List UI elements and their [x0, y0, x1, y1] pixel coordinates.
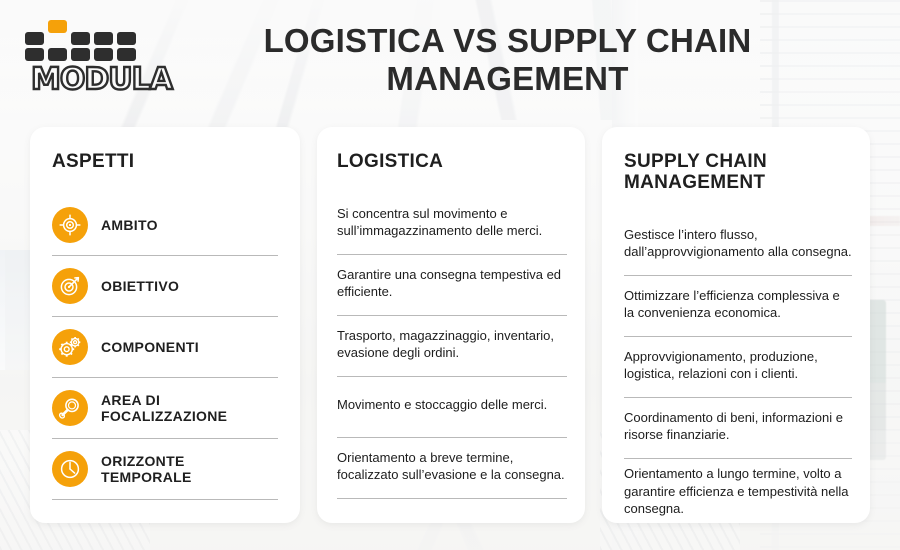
logo-box-3 [71, 32, 90, 45]
logistica-row-text: Garantire una consegna tempestiva ed eff… [337, 266, 567, 301]
card-logistica: LOGISTICA Si concentra sul movimento e s… [317, 127, 585, 523]
logo-wordmark-text: MODULA [31, 62, 172, 97]
logo-box-6 [25, 48, 44, 61]
scm-row-4: Coordinamento di beni, informazioni e ri… [624, 398, 852, 459]
logo-box-5 [117, 32, 136, 45]
aspect-row-area-di-focalizzazione[interactable]: AREA DI FOCALIZZAZIONE [52, 378, 278, 439]
logistica-row-5: Orientamento a breve termine, focalizzat… [337, 438, 567, 499]
aspect-label: ORIZZONTE TEMPORALE [101, 453, 278, 485]
card-aspetti: ASPETTI AMBITO [30, 127, 300, 523]
page-title: LOGISTICA VS SUPPLY CHAIN MANAGEMENT [195, 22, 820, 98]
aspect-row-ambito[interactable]: AMBITO [52, 195, 278, 256]
logistica-text-list: Si concentra sul movimento e sull’immaga… [317, 194, 585, 499]
logo-box-9 [94, 48, 113, 61]
logistica-row-text: Orientamento a breve termine, focalizzat… [337, 449, 567, 484]
logistica-row-text: Movimento e stoccaggio delle merci. [337, 396, 547, 414]
scm-row-text: Coordinamento di beni, informazioni e ri… [624, 409, 852, 444]
aspect-row-componenti[interactable]: COMPONENTI [52, 317, 278, 378]
card-supply-chain-management: SUPPLY CHAIN MANAGEMENT Gestisce l’inter… [602, 127, 870, 523]
scm-row-2: Ottimizzare l’efficienza complessiva e l… [624, 276, 852, 337]
clock-icon [52, 451, 88, 487]
scm-row-5: Orientamento a lungo termine, volto a ga… [624, 459, 852, 523]
logo-box-8 [71, 48, 90, 61]
logo-box-7 [48, 48, 67, 61]
modula-logo: MODULA [25, 20, 160, 98]
scm-row-text: Gestisce l’intero flusso, dall’approvvig… [624, 226, 852, 261]
crosshair-target-icon [52, 207, 88, 243]
aspect-label: AMBITO [101, 217, 158, 233]
logistica-row-text: Trasporto, magazzinaggio, inventario, ev… [337, 327, 567, 362]
logo-wordmark: MODULA [31, 62, 172, 97]
aspect-label: COMPONENTI [101, 339, 199, 355]
logistica-row-2: Garantire una consegna tempestiva ed eff… [337, 255, 567, 316]
logistica-row-1: Si concentra sul movimento e sull’immaga… [337, 194, 567, 255]
dartboard-arrow-icon [52, 268, 88, 304]
aspect-row-obiettivo[interactable]: OBIETTIVO [52, 256, 278, 317]
scm-row-1: Gestisce l’intero flusso, dall’approvvig… [624, 215, 852, 276]
logo-box-2-accent [48, 20, 67, 33]
gears-icon [52, 329, 88, 365]
logo-box-grid [25, 20, 145, 64]
card-scm-title: SUPPLY CHAIN MANAGEMENT [602, 127, 870, 193]
aspect-list: AMBITO OBIETTIVO [30, 195, 300, 500]
magnifying-glass-icon [52, 390, 88, 426]
logo-box-10 [117, 48, 136, 61]
aspect-label: AREA DI FOCALIZZAZIONE [101, 392, 278, 424]
comparison-columns: ASPETTI AMBITO [30, 127, 870, 523]
logistica-row-3: Trasporto, magazzinaggio, inventario, ev… [337, 316, 567, 377]
logo-box-4 [94, 32, 113, 45]
scm-row-text: Orientamento a lungo termine, volto a ga… [624, 465, 852, 518]
header: MODULA LOGISTICA VS SUPPLY CHAIN MANAGEM… [0, 0, 900, 118]
card-aspetti-title: ASPETTI [30, 127, 300, 172]
scm-row-text: Approvvigionamento, produzione, logistic… [624, 348, 852, 383]
scm-row-3: Approvvigionamento, produzione, logistic… [624, 337, 852, 398]
infographic-canvas: MODULA LOGISTICA VS SUPPLY CHAIN MANAGEM… [0, 0, 900, 550]
aspect-row-orizzonte-temporale[interactable]: ORIZZONTE TEMPORALE [52, 439, 278, 500]
card-logistica-title: LOGISTICA [317, 127, 585, 172]
logo-box-1 [25, 32, 44, 45]
logistica-row-4: Movimento e stoccaggio delle merci. [337, 377, 567, 438]
aspect-label: OBIETTIVO [101, 278, 179, 294]
scm-row-text: Ottimizzare l’efficienza complessiva e l… [624, 287, 852, 322]
scm-text-list: Gestisce l’intero flusso, dall’approvvig… [602, 215, 870, 523]
logistica-row-text: Si concentra sul movimento e sull’immaga… [337, 205, 567, 240]
